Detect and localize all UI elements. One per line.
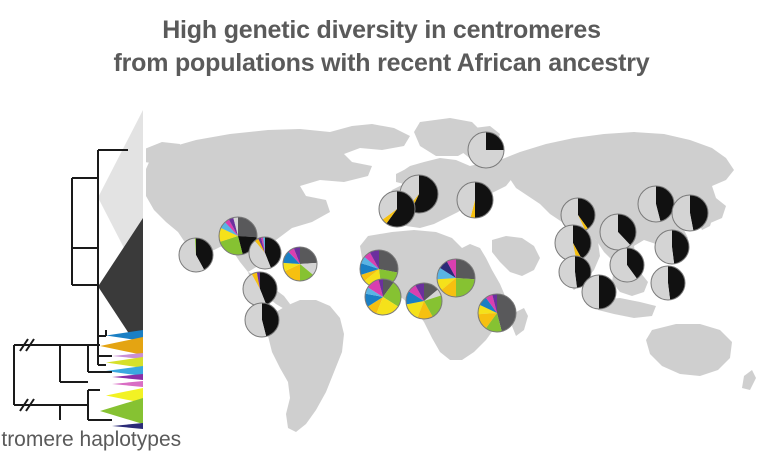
title-line-2: from populations with recent African anc… (113, 49, 649, 77)
figure-root: High genetic diversity in centromeresfro… (0, 0, 763, 466)
page-title: High genetic diversity in centromeresfro… (0, 14, 763, 80)
tree-caption: entromere haplotypes (0, 428, 181, 452)
title-line-1: High genetic diversity in centromeres (162, 16, 601, 44)
